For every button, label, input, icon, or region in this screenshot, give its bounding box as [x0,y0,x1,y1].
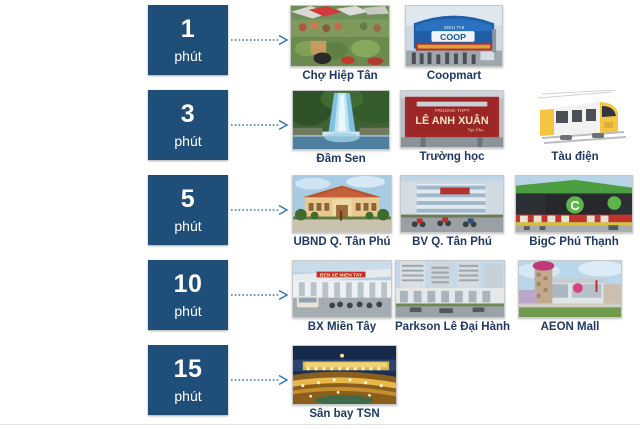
time-unit: phút [174,304,201,318]
metro-train-photo [520,90,630,148]
place-caption: Parkson Lê Đại Hành [395,321,505,334]
time-chip-10: 10 phút [148,260,228,330]
place-caption: BigC Phú Thạnh [515,236,633,249]
bottom-divider [0,424,640,425]
svg-text:Tan Phu: Tan Phu [467,128,484,133]
time-unit: phút [174,219,201,233]
place-card: C BigC Phú Thạnh [515,175,633,249]
place-card: Chợ Hiệp Tân [290,5,390,83]
time-value: 3 [181,102,195,127]
school-sign-photo: TRUONG THPT LÊ ANH XUÂN Tan Phu [400,90,504,148]
time-chip-3: 3 phút [148,90,228,160]
market-photo [290,5,390,67]
time-unit: phút [174,134,201,148]
place-caption: Sân bay TSN [292,408,397,421]
connector-arrow-15 [231,374,289,385]
supermarket-photo: SIEU THI COOP [405,5,503,67]
place-card: UBND Q. Tân Phú [292,175,392,249]
svg-text:C: C [570,199,579,213]
place-caption: Tàu điện [520,151,630,164]
svg-text:BEN XE MIEN TAY: BEN XE MIEN TAY [320,272,363,278]
place-caption: AEON Mall [518,321,622,334]
bus-station-photo: BEN XE MIEN TAY [292,260,392,318]
time-chip-1: 1 phút [148,5,228,75]
waterpark-photo [292,90,390,150]
svg-text:SIEU THI: SIEU THI [444,25,465,31]
time-chip-15: 15 phút [148,345,228,415]
place-card: SIEU THI COOP Coopmart [405,5,503,83]
hospital-photo [400,175,504,233]
bigc-store-photo: C [515,175,633,233]
time-value: 1 [181,17,195,42]
place-card: BEN XE MIEN TAY BX Miền Tây [292,260,392,334]
connector-arrow-1 [231,34,289,45]
place-caption: BV Q. Tân Phú [400,236,504,249]
place-card: AEON Mall [518,260,622,334]
place-card: Đầm Sen [292,90,390,166]
time-value: 10 [174,272,203,297]
time-value: 15 [174,357,203,382]
time-chip-5: 5 phút [148,175,228,245]
place-caption: UBND Q. Tân Phú [292,236,392,249]
place-caption: Trường học [400,151,504,164]
connector-arrow-3 [231,119,289,130]
place-caption: Chợ Hiệp Tân [290,70,390,83]
connector-arrow-10 [231,289,289,300]
parkson-photo [395,260,505,318]
svg-text:COOP: COOP [440,32,466,42]
place-card: Parkson Lê Đại Hành [395,260,505,334]
time-value: 5 [181,187,195,212]
svg-text:TRUONG THPT: TRUONG THPT [434,108,469,114]
place-card: Tàu điện [520,90,630,164]
place-card: BV Q. Tân Phú [400,175,504,249]
government-building-photo [292,175,392,233]
place-card: Sân bay TSN [292,345,397,421]
place-caption: Đầm Sen [292,153,390,166]
svg-text:LÊ ANH XUÂN: LÊ ANH XUÂN [415,114,488,127]
aeon-mall-photo [518,260,622,318]
place-card: TRUONG THPT LÊ ANH XUÂN Tan Phu Trường h… [400,90,504,164]
infographic-canvas: 1 phút [0,0,640,429]
airport-night-photo [292,345,397,405]
place-caption: Coopmart [405,70,503,83]
connector-arrow-5 [231,204,289,215]
time-unit: phút [174,389,201,403]
time-unit: phút [174,49,201,63]
place-caption: BX Miền Tây [292,321,392,334]
